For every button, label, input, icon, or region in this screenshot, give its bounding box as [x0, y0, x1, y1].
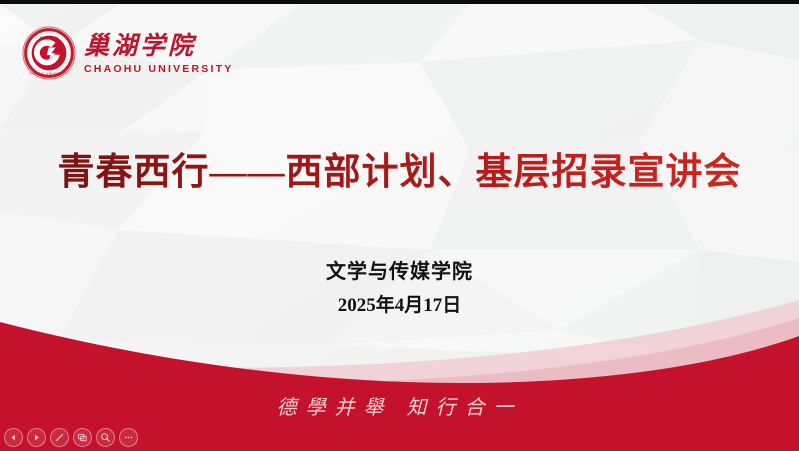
ellipsis-icon [123, 432, 134, 443]
presenting-organization: 文学与传媒学院 [0, 255, 799, 284]
all-slides-button[interactable] [73, 428, 92, 447]
magnifier-icon [100, 432, 111, 443]
logo-english-name: CHAOHU UNIVERSITY [84, 64, 233, 75]
presentation-slide: 巢 湖 学 院 CHAOHU UNIVERSITY 巢湖学院 CHAOHU UN… [0, 0, 799, 451]
letterbox-bar [0, 0, 799, 4]
pen-tool-button[interactable] [50, 428, 69, 447]
svg-text:巢 湖 学 院: 巢 湖 学 院 [39, 35, 59, 40]
logo-chinese-name: 巢湖学院 [84, 34, 196, 59]
presentation-date: 2025年4月17日 [0, 290, 799, 317]
previous-slide-button[interactable] [4, 428, 23, 447]
more-options-button[interactable] [119, 428, 138, 447]
triangle-left-icon [9, 433, 18, 442]
slide-title: 青春西行——西部计划、基层招录宣讲会 [0, 141, 799, 195]
next-slide-button[interactable] [27, 428, 46, 447]
chaohu-university-emblem-icon: 巢 湖 学 院 CHAOHU UNIVERSITY [22, 26, 76, 80]
university-motto: 德學并舉 知行合一 [0, 391, 799, 420]
zoom-tool-button[interactable] [96, 428, 115, 447]
triangle-right-icon [32, 433, 41, 442]
slides-grid-icon [77, 432, 88, 443]
pen-icon [54, 432, 65, 443]
svg-text:CHAOHU UNIVERSITY: CHAOHU UNIVERSITY [29, 72, 69, 76]
university-logo: 巢 湖 学 院 CHAOHU UNIVERSITY 巢湖学院 CHAOHU UN… [22, 26, 233, 80]
presenter-toolbar[interactable] [4, 428, 138, 447]
